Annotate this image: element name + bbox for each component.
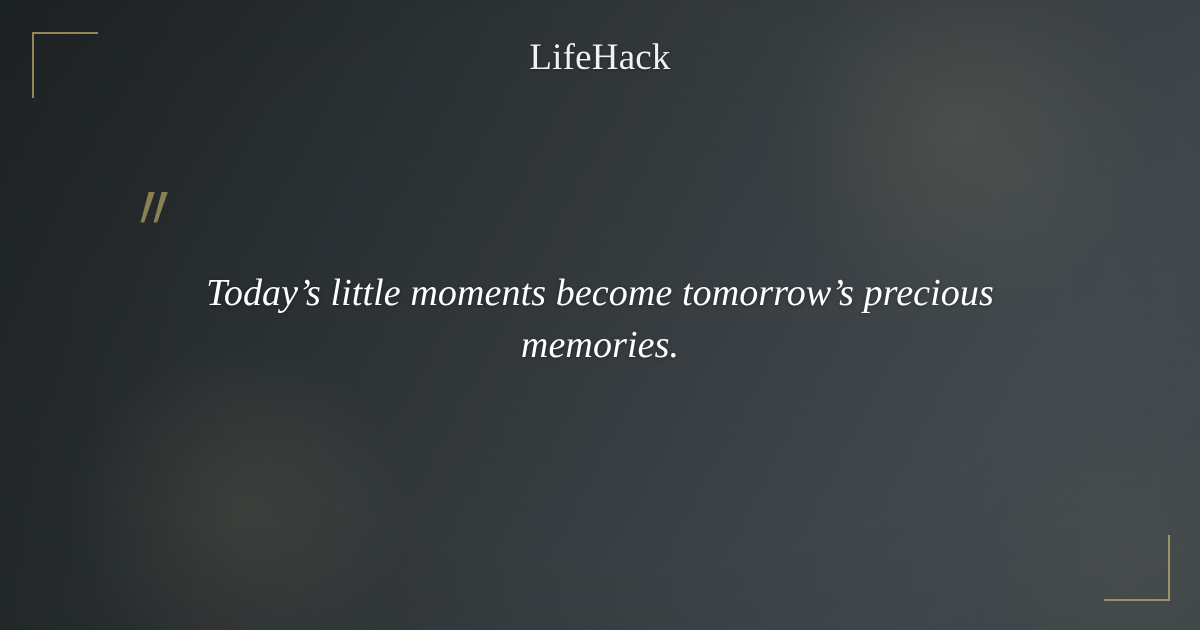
quote-text: Today’s little moments become tomorrow’s… — [160, 268, 1040, 371]
corner-bracket-bottom-right-icon — [1104, 535, 1170, 601]
quote-block: Today’s little moments become tomorrow’s… — [160, 268, 1040, 371]
brand-logo: LifeHack — [0, 39, 1200, 76]
quote-card: LifeHack Today’s little moments become t… — [0, 0, 1200, 630]
quotation-mark-icon — [130, 186, 190, 246]
